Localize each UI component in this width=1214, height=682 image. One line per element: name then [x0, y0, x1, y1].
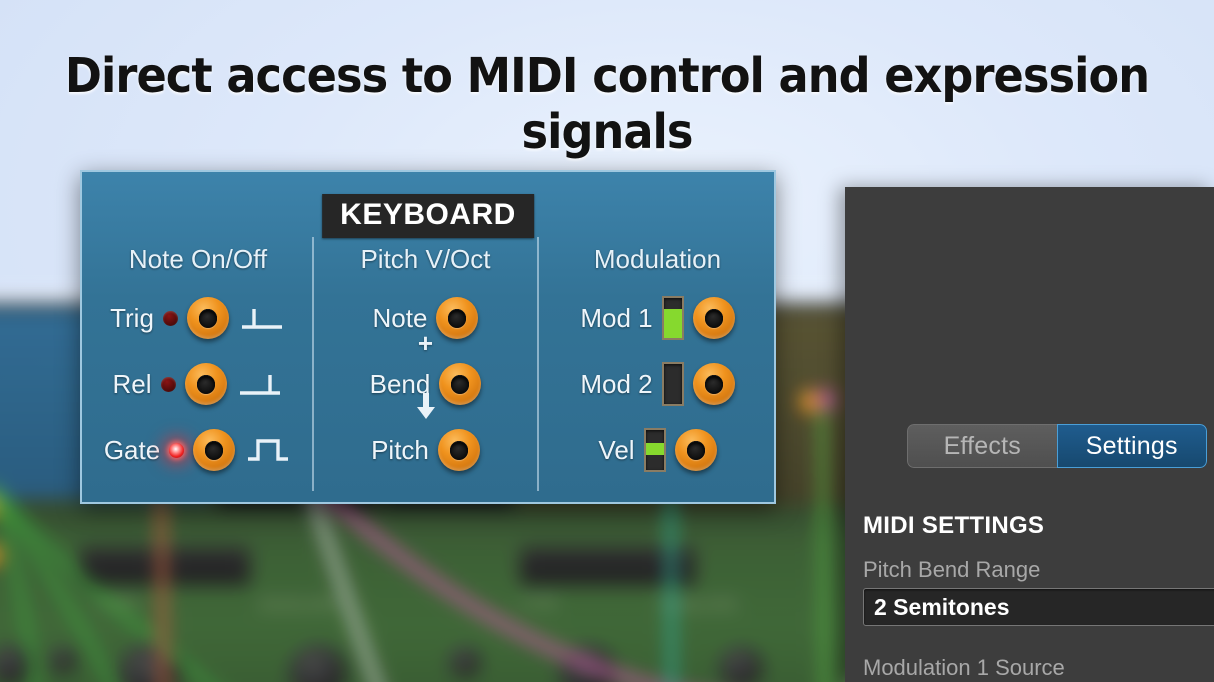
row-gate: Gate: [84, 417, 312, 483]
column-pitch-v-oct: Pitch V/Oct Note + Bend Pitch: [314, 244, 537, 494]
row-label-trig: Trig: [110, 303, 154, 334]
field-label-modulation-1-source: Modulation 1 Source: [863, 655, 1214, 681]
tab-effects[interactable]: Effects: [907, 424, 1057, 468]
jack-icon-bend[interactable]: [439, 363, 481, 405]
row-label-mod-1: Mod 1: [580, 303, 652, 334]
row-label-rel: Rel: [112, 369, 151, 400]
section-heading-midi-settings: MIDI SETTINGS: [863, 512, 1044, 540]
row-vel: Vel: [539, 417, 776, 483]
column-modulation: Modulation Mod 1 Mod 2 Vel: [539, 244, 776, 494]
release-impulse-icon: [236, 369, 284, 399]
tab-settings[interactable]: Settings: [1057, 424, 1208, 468]
jack-icon-pitch[interactable]: [438, 429, 480, 471]
module-title-badge: KEYBOARD: [322, 194, 534, 238]
plus-icon: +: [418, 330, 433, 356]
field-label-pitch-bend-range: Pitch Bend Range: [863, 557, 1214, 583]
field-pitch-bend-range: Pitch Bend Range 2 Semitones: [863, 557, 1214, 626]
settings-panel: Effects Settings MIDI SETTINGS Pitch Ben…: [845, 187, 1214, 682]
jack-icon-trig[interactable]: [187, 297, 229, 339]
page-title: Direct access to MIDI control and expres…: [42, 48, 1171, 160]
led-trig: [163, 311, 178, 326]
led-gate: [169, 443, 184, 458]
meter-mod-1: [662, 296, 684, 340]
dropdown-pitch-bend-range[interactable]: 2 Semitones: [863, 588, 1214, 626]
row-pitch: Pitch: [314, 417, 537, 483]
jack-icon-mod-1[interactable]: [693, 297, 735, 339]
tab-segmented-control: Effects Settings: [907, 424, 1207, 468]
row-label-mod-2: Mod 2: [580, 369, 652, 400]
column-header-pitch: Pitch V/Oct: [314, 244, 537, 275]
column-header-note-on-off: Note On/Off: [84, 244, 312, 275]
row-label-gate: Gate: [104, 435, 160, 466]
jack-icon-note[interactable]: [436, 297, 478, 339]
jack-icon-rel[interactable]: [185, 363, 227, 405]
row-trig: Trig: [84, 285, 312, 351]
keyboard-module-panel: KEYBOARD Note On/Off Trig Rel Gate: [80, 170, 776, 504]
row-rel: Rel: [84, 351, 312, 417]
arrow-down-icon: [416, 393, 436, 419]
jack-icon-vel[interactable]: [675, 429, 717, 471]
dropdown-value-pitch-bend-range: 2 Semitones: [874, 594, 1010, 621]
column-note-on-off: Note On/Off Trig Rel Gate: [84, 244, 312, 494]
meter-vel: [644, 428, 666, 472]
row-mod-1: Mod 1: [539, 285, 776, 351]
meter-mod-2: [662, 362, 684, 406]
trigger-impulse-icon: [238, 303, 286, 333]
jack-icon-mod-2[interactable]: [693, 363, 735, 405]
row-mod-2: Mod 2: [539, 351, 776, 417]
field-modulation-1-source: Modulation 1 Source 1 Modulation Wheel: [863, 655, 1214, 682]
column-header-modulation: Modulation: [539, 244, 776, 275]
led-rel: [161, 377, 176, 392]
row-label-vel: Vel: [598, 435, 634, 466]
jack-icon-gate[interactable]: [193, 429, 235, 471]
row-label-pitch: Pitch: [371, 435, 429, 466]
gate-square-icon: [244, 435, 292, 465]
